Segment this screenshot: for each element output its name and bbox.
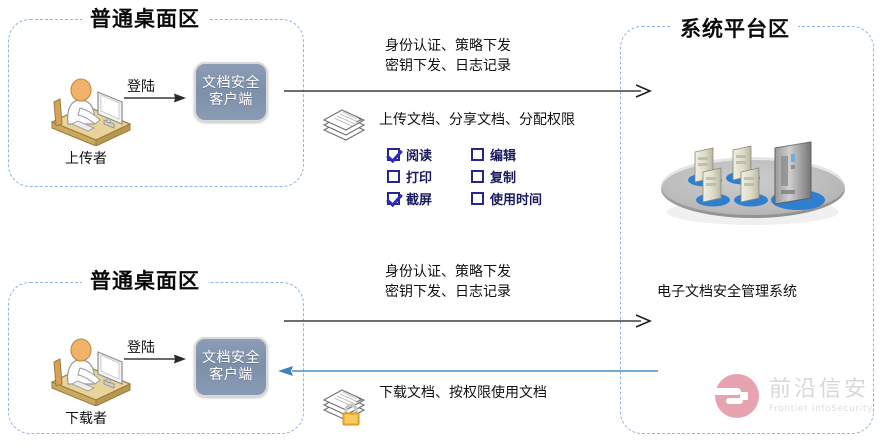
person-at-desk-icon (38, 322, 134, 406)
top-client-line2: 客户端 (209, 92, 253, 109)
top-client-line1: 文档安全 (202, 75, 260, 92)
zone-desktop-bottom-title: 普通桌面区 (82, 268, 208, 294)
checkbox-read-icon[interactable] (387, 148, 400, 161)
permission-item-copy[interactable]: 复制 (471, 167, 542, 186)
top-login-arrow (124, 92, 186, 104)
bottom-client-box[interactable]: 文档安全 客户端 (194, 337, 268, 397)
checkbox-print-icon[interactable] (387, 170, 400, 183)
top-channel-line1: 身份认证、策略下发 (385, 36, 511, 56)
permission-label-print: 打印 (406, 167, 432, 186)
zone-desktop-top-title: 普通桌面区 (82, 6, 208, 32)
bottom-downlink-arrow (278, 365, 658, 377)
permission-label-screenshot: 截屏 (406, 189, 432, 208)
top-doc-action-label: 上传文档、分享文档、分配权限 (379, 110, 575, 130)
permission-label-read: 阅读 (406, 145, 432, 164)
server-cluster-icon (655, 134, 851, 226)
checkbox-screenshot-icon[interactable] (387, 192, 400, 205)
top-client-box[interactable]: 文档安全 客户端 (194, 62, 268, 122)
platform-caption: 电子文档安全管理系统 (657, 281, 797, 301)
checkbox-usage-time-icon[interactable] (471, 192, 484, 205)
person-at-desk-icon (38, 62, 134, 146)
permission-item-usage-time[interactable]: 使用时间 (471, 189, 542, 208)
bottom-client-line1: 文档安全 (202, 350, 260, 367)
checkbox-copy-icon[interactable] (471, 170, 484, 183)
permission-item-print[interactable]: 打印 (387, 167, 471, 186)
bottom-uplink-arrow (284, 314, 652, 328)
permission-label-edit: 编辑 (490, 145, 516, 164)
bottom-channel-line2: 密钥下发、日志记录 (385, 282, 511, 302)
bottom-login-arrow (124, 353, 186, 365)
permission-label-usage-time: 使用时间 (490, 189, 542, 208)
bottom-channel-label: 身份认证、策略下发 密钥下发、日志记录 (385, 262, 511, 302)
top-user-caption: 上传者 (26, 148, 146, 168)
document-stack-icon (320, 100, 368, 144)
brand-logo: 前沿信安 Frontier InfoSecurity (714, 373, 873, 419)
logo-name-cn: 前沿信安 (769, 379, 873, 401)
top-uplink-arrow (284, 84, 652, 98)
frontier-logo-mark-icon (714, 373, 760, 419)
diagram-canvas: 普通桌面区 上传者 登陆 (0, 0, 882, 444)
bottom-client-line2: 客户端 (209, 367, 253, 384)
locked-document-stack-icon (320, 380, 368, 424)
permission-label-copy: 复制 (490, 167, 516, 186)
zone-platform-title: 系统平台区 (672, 16, 798, 42)
permission-item-read[interactable]: 阅读 (387, 145, 471, 164)
top-channel-line2: 密钥下发、日志记录 (385, 56, 511, 76)
checkbox-edit-icon[interactable] (471, 148, 484, 161)
bottom-doc-action-label: 下载文档、按权限使用文档 (379, 383, 547, 403)
permission-item-edit[interactable]: 编辑 (471, 145, 542, 164)
bottom-channel-line1: 身份认证、策略下发 (385, 262, 511, 282)
logo-name-en: Frontier InfoSecurity (769, 405, 873, 414)
permission-item-screenshot[interactable]: 截屏 (387, 189, 471, 208)
top-channel-label: 身份认证、策略下发 密钥下发、日志记录 (385, 36, 511, 76)
permission-checkbox-grid: 阅读 编辑 打印 复制 截屏 使用时间 (387, 143, 542, 209)
bottom-user-caption: 下载者 (26, 408, 146, 428)
